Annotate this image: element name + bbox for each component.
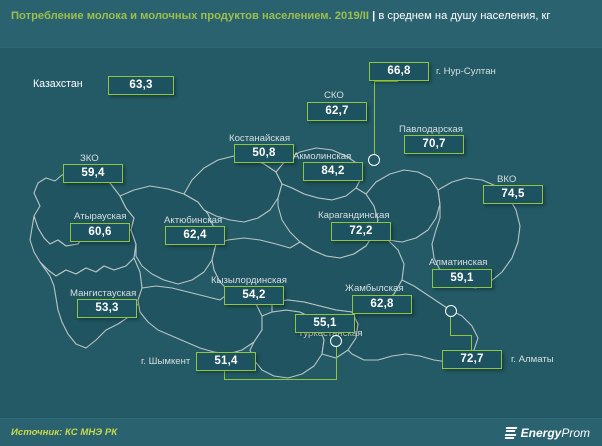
- footer-bar: Источник: КС МНЭ РК EnergyProm: [0, 418, 602, 446]
- leader-line-shymkent-horizontal: [224, 379, 337, 380]
- leader-line-almaty-vertical2: [471, 335, 472, 351]
- leader-line-nursultan-horizontal: [374, 81, 398, 82]
- page-title: Потребление молока и молочных продуктов …: [11, 8, 571, 24]
- leader-line-nursultan-vertical: [374, 82, 375, 155]
- region-label-sko: СКО: [324, 90, 344, 101]
- region-value-zhambyl: 62,8: [352, 295, 412, 314]
- city-value-almaty: 72,7: [442, 350, 502, 369]
- region-value-sko: 62,7: [307, 102, 367, 121]
- infographic-page: Потребление молока и молочных продуктов …: [0, 0, 602, 446]
- region-value-akmola: 84,2: [303, 162, 363, 181]
- region-label-almaty-oblast: Алматинская: [429, 257, 488, 268]
- logo-prom-text: Prom: [561, 426, 590, 440]
- energyprom-bars-icon: [505, 427, 518, 439]
- logo-energy-text: Energy: [521, 426, 562, 440]
- source-text: Источник: КС МНЭ РК: [11, 427, 117, 438]
- region-label-aktobe: Актюбинская: [164, 215, 222, 226]
- region-value-turkestan: 55,1: [295, 314, 355, 333]
- region-label-akmola: Акмолинская: [293, 151, 351, 162]
- city-label-shymkent: г. Шымкент: [141, 356, 190, 367]
- region-label-zhambyl: Жамбылская: [345, 283, 404, 294]
- leader-line-almaty-vertical: [450, 317, 451, 335]
- city-value-shymkent: 51,4: [196, 352, 256, 371]
- region-label-kostanay: Костанайская: [229, 133, 290, 144]
- leader-line-shymkent-vertical: [336, 347, 337, 380]
- logo-wordmark: EnergyProm: [521, 426, 590, 440]
- city-marker-almaty: [445, 305, 457, 317]
- leader-line-almaty-horizontal: [450, 335, 472, 336]
- city-label-nursultan: г. Нур-Султан: [436, 66, 496, 77]
- city-label-almaty: г. Алматы: [511, 354, 554, 365]
- city-marker-nursultan: [368, 154, 380, 166]
- title-separator: |: [369, 10, 378, 22]
- region-value-karaganda: 72,2: [331, 222, 391, 241]
- region-value-zko: 59,4: [63, 164, 123, 183]
- region-value-pavlodar: 70,7: [404, 135, 464, 154]
- region-value-kyzylorda: 54,2: [224, 286, 284, 305]
- region-value-aktobe: 62,4: [165, 226, 225, 245]
- title-subtitle: в среднем на душу населения, кг: [378, 10, 550, 22]
- region-value-mangystau: 53,3: [77, 299, 137, 318]
- energyprom-logo[interactable]: EnergyProm: [505, 425, 590, 441]
- region-label-kyzylorda: Кызылординская: [211, 275, 287, 286]
- region-label-zko: ЗКО: [80, 153, 99, 164]
- city-marker-shymkent: [330, 335, 342, 347]
- region-value-kostanay: 50,8: [234, 144, 294, 163]
- region-label-atyrau: Атырауская: [74, 211, 126, 222]
- header-bar: Потребление молока и молочных продуктов …: [0, 0, 602, 48]
- region-value-vko: 74,5: [483, 185, 543, 204]
- city-value-nursultan: 66,8: [369, 62, 429, 81]
- region-label-mangystau: Мангистауская: [70, 288, 136, 299]
- region-value-almaty-oblast: 59,1: [432, 269, 492, 288]
- country-value-box: 63,3: [108, 76, 174, 95]
- country-label: Казахстан: [33, 79, 83, 90]
- region-label-vko: ВКО: [497, 174, 516, 185]
- title-accent: Потребление молока и молочных продуктов …: [11, 10, 369, 22]
- region-label-pavlodar: Павлодарская: [399, 124, 463, 135]
- region-value-atyrau: 60,6: [70, 223, 130, 242]
- kazakhstan-map: Казахстан 63,3 СКО 62,7 Костанайская 50,…: [0, 48, 602, 403]
- region-label-karaganda: Карагандинская: [318, 210, 390, 221]
